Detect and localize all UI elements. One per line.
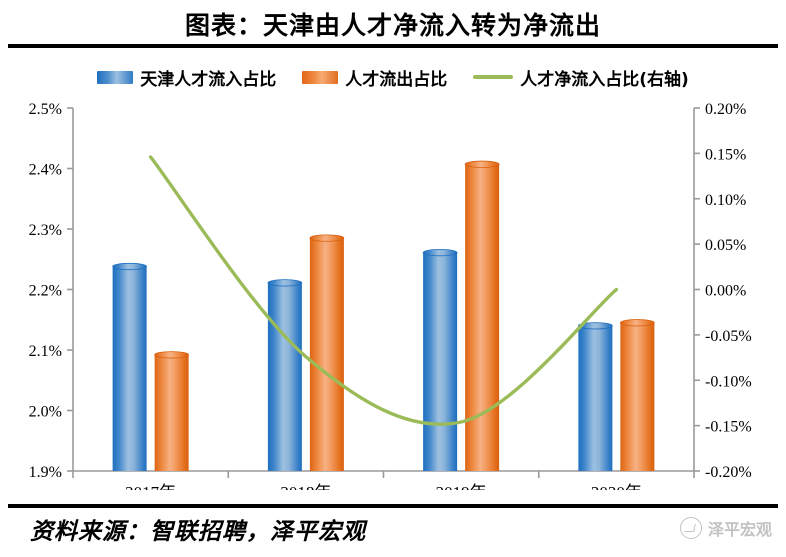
svg-text:0.15%: 0.15% xyxy=(705,146,746,163)
svg-text:2.1%: 2.1% xyxy=(29,343,62,360)
svg-text:0.20%: 0.20% xyxy=(705,101,746,118)
svg-text:1.9%: 1.9% xyxy=(29,464,62,481)
title-divider xyxy=(8,44,778,48)
svg-text:2018年: 2018年 xyxy=(280,483,331,490)
watermark-label: 泽平宏观 xyxy=(708,516,772,540)
svg-text:2.3%: 2.3% xyxy=(29,222,62,239)
footer-divider xyxy=(8,504,778,508)
bar-swatch-orange-icon xyxy=(302,71,338,84)
watermark: 泽平宏观 xyxy=(680,516,772,540)
legend-item-inflow: 天津人才流入占比 xyxy=(97,65,276,90)
circle-logo-icon xyxy=(680,517,702,539)
legend-label-outflow: 人才流出占比 xyxy=(345,65,447,90)
line-swatch-green-icon xyxy=(473,75,513,79)
svg-text:2.2%: 2.2% xyxy=(29,283,62,300)
svg-text:0.05%: 0.05% xyxy=(705,237,746,254)
svg-text:2.0%: 2.0% xyxy=(29,404,62,421)
bar-swatch-blue-icon xyxy=(97,71,133,84)
svg-text:0.00%: 0.00% xyxy=(705,283,746,300)
svg-text:-0.20%: -0.20% xyxy=(705,464,752,481)
legend-item-outflow: 人才流出占比 xyxy=(302,65,447,90)
legend-label-net: 人才净流入占比(右轴) xyxy=(520,65,689,90)
svg-text:-0.10%: -0.10% xyxy=(705,373,752,390)
svg-text:2.5%: 2.5% xyxy=(29,101,62,118)
svg-text:-0.05%: -0.05% xyxy=(705,328,752,345)
legend-label-inflow: 天津人才流入占比 xyxy=(140,65,276,90)
svg-text:2019年: 2019年 xyxy=(436,483,487,490)
chart-svg: 1.9%2.0%2.1%2.2%2.3%2.4%2.5%-0.20%-0.15%… xyxy=(0,95,786,490)
svg-text:2.4%: 2.4% xyxy=(29,162,62,179)
chart-legend: 天津人才流入占比 人才流出占比 人才净流入占比(右轴) xyxy=(0,64,786,90)
svg-text:0.10%: 0.10% xyxy=(705,192,746,209)
source-note: 资料来源：智联招聘，泽平宏观 xyxy=(30,512,366,546)
chart-page: 图表：天津由人才净流入转为净流出 天津人才流入占比 人才流出占比 人才净流入占比… xyxy=(0,0,786,557)
page-title: 图表：天津由人才净流入转为净流出 xyxy=(0,6,786,42)
svg-text:2017年: 2017年 xyxy=(125,483,176,490)
svg-text:2020年: 2020年 xyxy=(591,483,642,490)
legend-item-net: 人才净流入占比(右轴) xyxy=(473,65,689,90)
svg-text:-0.15%: -0.15% xyxy=(705,419,752,436)
chart-plot-area: 1.9%2.0%2.1%2.2%2.3%2.4%2.5%-0.20%-0.15%… xyxy=(0,95,786,490)
